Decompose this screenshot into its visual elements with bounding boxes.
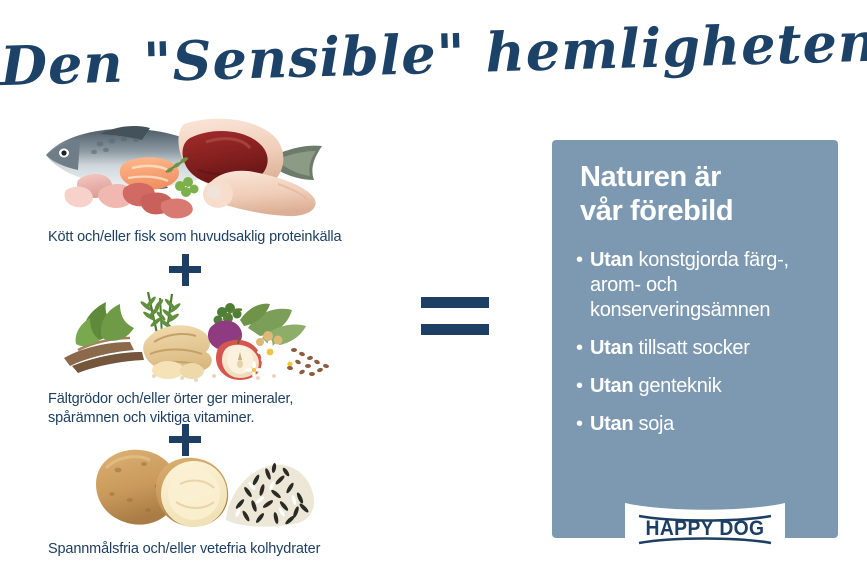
ingredient-block-carbs: Spannmålsfria och/eller vetefria kolhydr… bbox=[0, 442, 420, 532]
panel-heading: Naturen är vår förebild bbox=[580, 160, 820, 228]
list-item: Utan konstgjorda färg-, arom- och konser… bbox=[576, 248, 828, 323]
list-item: Utan genteknik bbox=[576, 374, 828, 399]
bullet-text: genteknik bbox=[633, 375, 721, 397]
bullet-keyword: Utan bbox=[590, 337, 633, 359]
herbs-and-field-crops-photo bbox=[62, 272, 342, 384]
bullet-text: soja bbox=[633, 413, 674, 435]
ingredients-column: Kött och/eller fisk som huvudsaklig prot… bbox=[0, 110, 420, 570]
list-item: Utan tillsatt socker bbox=[576, 336, 828, 361]
ingredient-block-herbs: Fältgrödor och/eller örter ger mineraler… bbox=[0, 272, 420, 384]
infographic-canvas: Den "Sensible" hemligheten bbox=[0, 0, 867, 578]
equals-operator bbox=[421, 297, 489, 339]
cut-potato-illustration bbox=[156, 458, 228, 527]
bullet-keyword: Utan bbox=[590, 249, 633, 271]
caption-carbs: Spannmålsfria och/eller vetefria kolhydr… bbox=[48, 540, 418, 559]
potato-and-rice-photo bbox=[88, 442, 318, 532]
list-item: Utan soja bbox=[576, 412, 828, 437]
logo-wordmark: HAPPY DOG bbox=[631, 503, 778, 555]
bullet-keyword: Utan bbox=[590, 375, 633, 397]
meat-and-fish-photo bbox=[38, 110, 338, 220]
panel-bullet-list: Utan konstgjorda färg-, arom- och konser… bbox=[576, 248, 828, 450]
happy-dog-logo: HAPPY DOG bbox=[625, 503, 785, 555]
bullet-text: tillsatt socker bbox=[633, 337, 749, 359]
wild-rice-illustration bbox=[226, 463, 314, 527]
caption-herbs: Fältgrödor och/eller örter ger mineraler… bbox=[48, 390, 418, 428]
bullet-keyword: Utan bbox=[590, 413, 633, 435]
ingredient-block-protein: Kött och/eller fisk som huvudsaklig prot… bbox=[0, 110, 420, 220]
ginger-root-illustration bbox=[143, 325, 212, 379]
nature-panel: Naturen är vår förebild Utan konstgjorda… bbox=[552, 140, 838, 538]
caption-protein: Kött och/eller fisk som huvudsaklig prot… bbox=[48, 228, 418, 247]
page-title: Den "Sensible" hemligheten bbox=[0, 10, 867, 98]
